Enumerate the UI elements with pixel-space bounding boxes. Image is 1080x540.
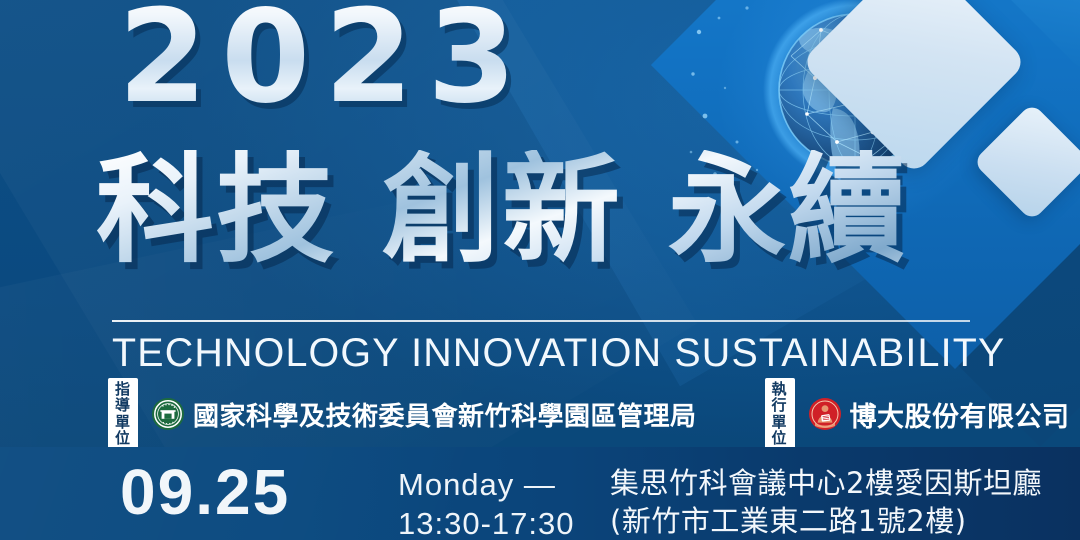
organizer-role-tag-guidance: 指導單位 xyxy=(108,378,138,451)
nstc-hsinchu-science-park-emblem-icon xyxy=(152,398,184,430)
title-group-2: 創新 xyxy=(382,150,622,270)
title-divider xyxy=(112,320,970,322)
event-date: 09.25 xyxy=(120,460,290,524)
title-group-3: 永續 xyxy=(668,150,908,270)
bode-company-logo-icon xyxy=(809,398,841,430)
poster-title-chinese: 科技 創新 永續 xyxy=(96,150,996,270)
organizer-role-tag-execution: 執行單位 xyxy=(765,378,795,451)
event-time: 13:30-17:30 xyxy=(398,505,574,540)
title-group-1: 科技 xyxy=(96,150,336,270)
organizer-guidance: 指導單位 國家科學 xyxy=(108,378,697,451)
event-poster: 2023 科技 創新 永續 TECHNOLOGY INNOVATION SUST… xyxy=(0,0,1080,540)
poster-title-english: TECHNOLOGY INNOVATION SUSTAINABILITY xyxy=(112,331,969,376)
event-weekday: Monday — xyxy=(398,466,574,505)
event-venue-line2: (新竹市工業東二路1號2樓) xyxy=(610,502,1042,540)
organizer-row: 指導單位 國家科學 xyxy=(108,394,988,434)
event-schedule: Monday — 13:30-17:30 xyxy=(398,466,574,540)
poster-year: 2023 xyxy=(118,0,530,122)
organizer-name-execution: 博大股份有限公司 xyxy=(850,395,1070,434)
event-venue-line1: 集思竹科會議中心2樓愛因斯坦廳 xyxy=(610,464,1042,502)
organizer-execution: 執行單位 博大股份有限公司 xyxy=(765,378,1070,451)
organizer-name-guidance: 國家科學及技術委員會新竹科學園區管理局 xyxy=(193,396,697,433)
event-venue: 集思竹科會議中心2樓愛因斯坦廳 (新竹市工業東二路1號2樓) xyxy=(610,464,1042,540)
